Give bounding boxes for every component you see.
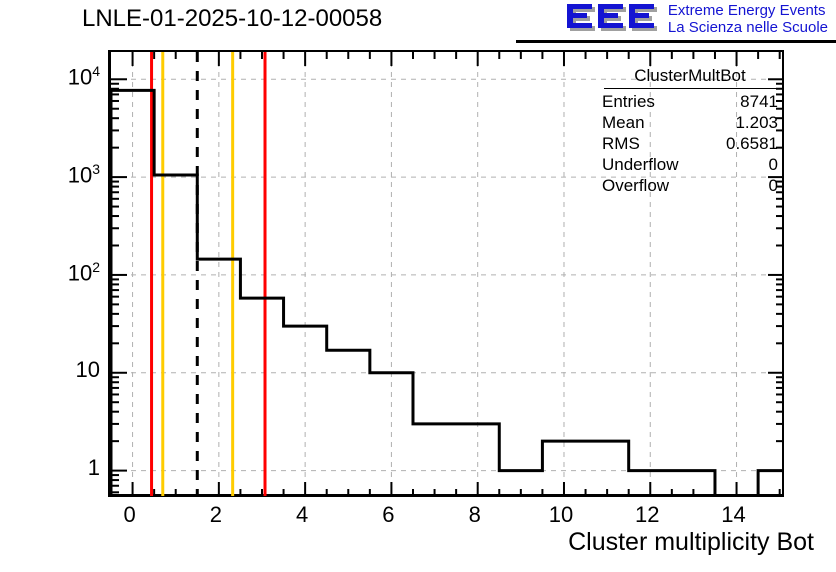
x-tick-label: 14 — [714, 502, 754, 528]
page-title: LNLE-01-2025-10-12-00058 — [82, 5, 382, 33]
stats-row-key: Underflow — [602, 154, 679, 175]
x-tick-label: 2 — [196, 502, 236, 528]
stats-row-value: 0 — [769, 154, 778, 175]
marker-lines — [152, 52, 265, 496]
y-tick-label: 102 — [40, 259, 100, 286]
stats-box: ClusterMultBot Entries8741Mean1.203RMS0.… — [598, 66, 782, 196]
stats-title: ClusterMultBot — [604, 66, 776, 89]
y-tick-label: 103 — [40, 161, 100, 188]
eee-logo: Extreme Energy Events La Scienza nelle S… — [565, 2, 828, 36]
logo-line-2: La Scienza nelle Scuole — [668, 19, 828, 36]
x-tick-label: 0 — [110, 502, 150, 528]
x-tick-label: 10 — [541, 502, 581, 528]
stats-row-key: Overflow — [602, 175, 669, 196]
eee-logo-svg — [565, 2, 661, 36]
y-tick-label: 10 — [40, 357, 100, 383]
y-tick-label: 1 — [40, 455, 100, 481]
header-divider — [516, 40, 836, 43]
logo-line-1: Extreme Energy Events — [668, 2, 828, 19]
stats-row: RMS0.6581 — [598, 133, 782, 154]
stats-row-value: 0 — [769, 175, 778, 196]
stats-row-value: 8741 — [740, 91, 778, 112]
eee-logo-text: Extreme Energy Events La Scienza nelle S… — [668, 2, 828, 36]
stats-row: Mean1.203 — [598, 112, 782, 133]
stats-row-key: Mean — [602, 112, 645, 133]
x-axis-title: Cluster multiplicity Bot — [568, 528, 814, 557]
stats-row-key: Entries — [602, 91, 655, 112]
x-tick-label: 8 — [455, 502, 495, 528]
stats-row-value: 1.203 — [735, 112, 778, 133]
x-tick-label: 6 — [368, 502, 408, 528]
stats-rows: Entries8741Mean1.203RMS0.6581Underflow0O… — [598, 91, 782, 196]
stats-row-value: 0.6581 — [726, 133, 778, 154]
stats-row-key: RMS — [602, 133, 640, 154]
x-tick-label: 4 — [282, 502, 322, 528]
x-tick-label: 12 — [627, 502, 667, 528]
stats-row: Entries8741 — [598, 91, 782, 112]
root-canvas: LNLE-01-2025-10-12-00058 — [0, 0, 836, 572]
stats-row: Overflow0 — [598, 175, 782, 196]
y-tick-label: 104 — [40, 63, 100, 90]
eee-logo-mark — [565, 2, 661, 36]
stats-row: Underflow0 — [598, 154, 782, 175]
